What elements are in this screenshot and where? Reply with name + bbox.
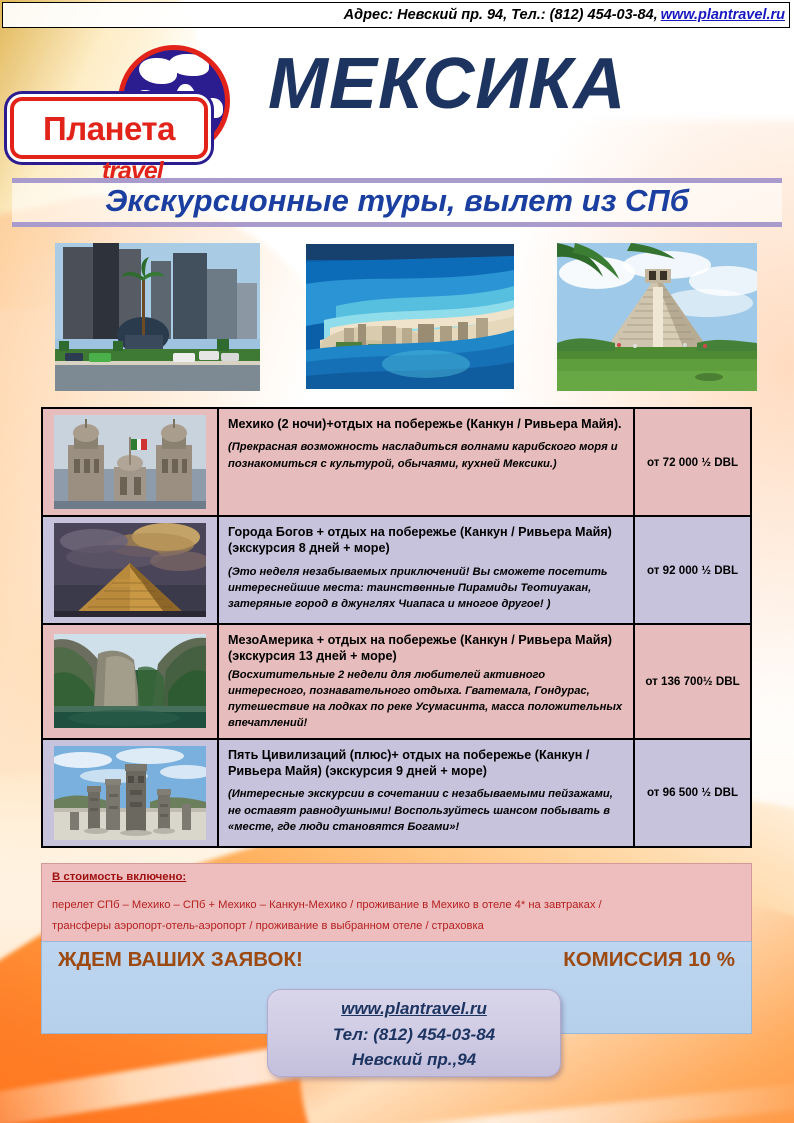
highlight-streak-lower xyxy=(121,1079,794,1123)
offer-description-cell: Пять Цивилизаций (плюс)+ отдых на побере… xyxy=(219,740,635,846)
hero-photo-strip xyxy=(0,243,794,395)
included-section: В стоимость включено: перелет СПб – Мехи… xyxy=(41,863,752,947)
website-link-header[interactable]: www.plantravel.ru xyxy=(661,7,785,23)
address-text: Адрес: Невский пр. 94, Тел.: (812) 454-0… xyxy=(344,7,658,23)
offer-description-cell: МезоАмерика + отдых на побережье (Канкун… xyxy=(219,625,635,738)
offer-description-cell: Города Богов + отдых на побережье (Канку… xyxy=(219,517,635,623)
contact-address: Невский пр.,94 xyxy=(268,1047,560,1073)
contact-card: www.plantravel.ru Тел: (812) 454-03-84 Н… xyxy=(267,989,561,1077)
cancun-aerial-photo xyxy=(306,244,514,389)
offer-thumbnail-cell xyxy=(43,517,219,623)
page-title: МЕКСИКА xyxy=(268,48,626,120)
offer-thumbnail-cell xyxy=(43,740,219,846)
offer-title: Мехико (2 ночи)+отдых на побережье (Канк… xyxy=(228,416,624,432)
offer-note: (Это неделя незабываемых приключений! Вы… xyxy=(228,564,624,613)
offer-note: (Интересные экскурсии в сочетании с неза… xyxy=(228,786,624,835)
table-row[interactable]: МезоАмерика + отдых на побережье (Канкун… xyxy=(43,625,750,740)
offer-price-cell: от 92 000 ½ DBL xyxy=(635,517,750,623)
tula-atlantean-statues-thumb xyxy=(54,746,206,840)
offer-title: Города Богов + отдых на побережье (Канку… xyxy=(228,524,624,557)
included-heading: В стоимость включено: xyxy=(52,871,741,883)
offers-table: Мехико (2 ночи)+отдых на побережье (Канк… xyxy=(41,407,752,848)
table-row[interactable]: Пять Цивилизаций (плюс)+ отдых на побере… xyxy=(43,740,750,846)
offer-description-cell: Мехико (2 ночи)+отдых на побережье (Канк… xyxy=(219,409,635,515)
brochure-page: Адрес: Невский пр. 94, Тел.: (812) 454-0… xyxy=(0,0,794,1123)
cta-right-text: КОМИССИЯ 10 % xyxy=(563,948,735,972)
teotihuacan-pyramid-sunset-thumb xyxy=(54,523,206,617)
offer-note: (Восхитительные 2 недели для любителей а… xyxy=(228,667,624,732)
offer-thumbnail-cell xyxy=(43,409,219,515)
offer-price-cell: от 72 000 ½ DBL xyxy=(635,409,750,515)
offer-title: Пять Цивилизаций (плюс)+ отдых на побере… xyxy=(228,747,624,780)
chichen-itza-pyramid-photo xyxy=(557,243,757,391)
offer-price: от 72 000 ½ DBL xyxy=(647,456,738,469)
offer-title: МезоАмерика + отдых на побережье (Канкун… xyxy=(228,632,624,665)
offer-thumbnail-cell xyxy=(43,625,219,738)
offer-note: (Прекрасная возможность насладиться волн… xyxy=(228,439,624,471)
included-line-1: перелет СПб – Мехико – СПб + Мехико – Ка… xyxy=(52,895,741,916)
cta-left-text: ЖДЕМ ВАШИХ ЗАЯВОК! xyxy=(58,948,303,972)
sumidero-canyon-thumb xyxy=(54,634,206,728)
mexico-city-cathedral-thumb xyxy=(54,415,206,509)
address-bar: Адрес: Невский пр. 94, Тел.: (812) 454-0… xyxy=(2,2,790,28)
subtitle-band: Экскурсионные туры, вылет из СПб xyxy=(12,178,782,227)
logo-nameplate: Планета xyxy=(10,97,208,159)
cta-row: ЖДЕМ ВАШИХ ЗАЯВОК! КОМИССИЯ 10 % xyxy=(42,942,751,972)
masthead: Планета travel МЕКСИКА xyxy=(0,30,794,175)
logo-word: Планета xyxy=(43,112,175,145)
offer-price-cell: от 96 500 ½ DBL xyxy=(635,740,750,846)
included-line-2: трансферы аэропорт-отель-аэропорт / прож… xyxy=(52,916,741,937)
website-link-footer[interactable]: www.plantravel.ru xyxy=(341,999,487,1018)
company-logo[interactable]: Планета travel xyxy=(10,45,250,185)
contact-phone: Тел: (812) 454-03-84 xyxy=(268,1022,560,1048)
mexico-city-skyline-photo xyxy=(55,243,260,391)
offer-price: от 96 500 ½ DBL xyxy=(647,786,738,799)
table-row[interactable]: Города Богов + отдых на побережье (Канку… xyxy=(43,517,750,625)
subtitle-text: Экскурсионные туры, вылет из СПб xyxy=(12,185,782,218)
offer-price: от 136 700½ DBL xyxy=(645,675,739,688)
offer-price: от 92 000 ½ DBL xyxy=(647,564,738,577)
offer-price-cell: от 136 700½ DBL xyxy=(635,625,750,738)
table-row[interactable]: Мехико (2 ночи)+отдых на побережье (Канк… xyxy=(43,409,750,517)
